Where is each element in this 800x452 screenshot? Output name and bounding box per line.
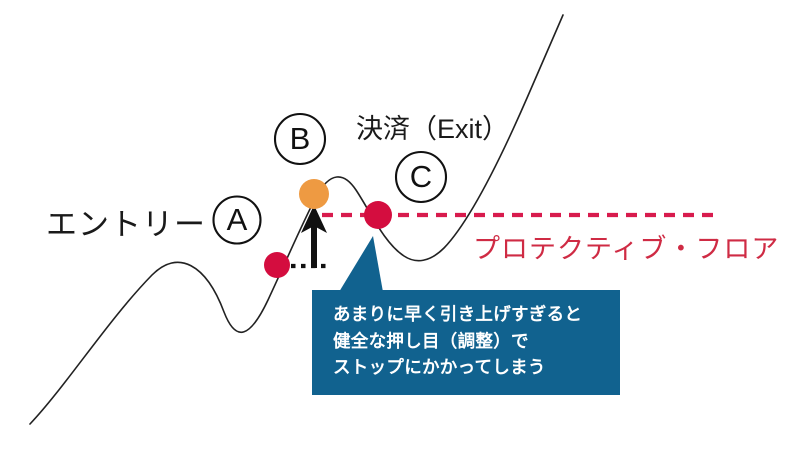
protective-floor-label: プロテクティブ・フロア [473,227,779,266]
marker-letter-a: A [222,204,252,235]
exit-dot [364,201,392,229]
exit-label: 決済（Exit） [356,107,509,146]
entry-dot [264,252,290,278]
callout-tail [339,236,383,292]
marker-letter-c: C [406,161,436,192]
callout-line-2: 健全な押し目（調整）で [333,328,613,355]
callout-line-3: ストップにかかってしまう [333,354,613,381]
callout-text-block: あまりに早く引き上げすぎると 健全な押し目（調整）で ストップにかかってしまう [333,301,613,381]
diagram-canvas: エントリー 決済（Exit） プロテクティブ・フロア A B C あまりに早く引… [0,0,800,452]
marker-letter-b: B [285,123,315,154]
raised-stop-dot [299,179,329,209]
entry-label: エントリー [46,199,206,244]
callout-line-1: あまりに早く引き上げすぎると [333,301,613,328]
